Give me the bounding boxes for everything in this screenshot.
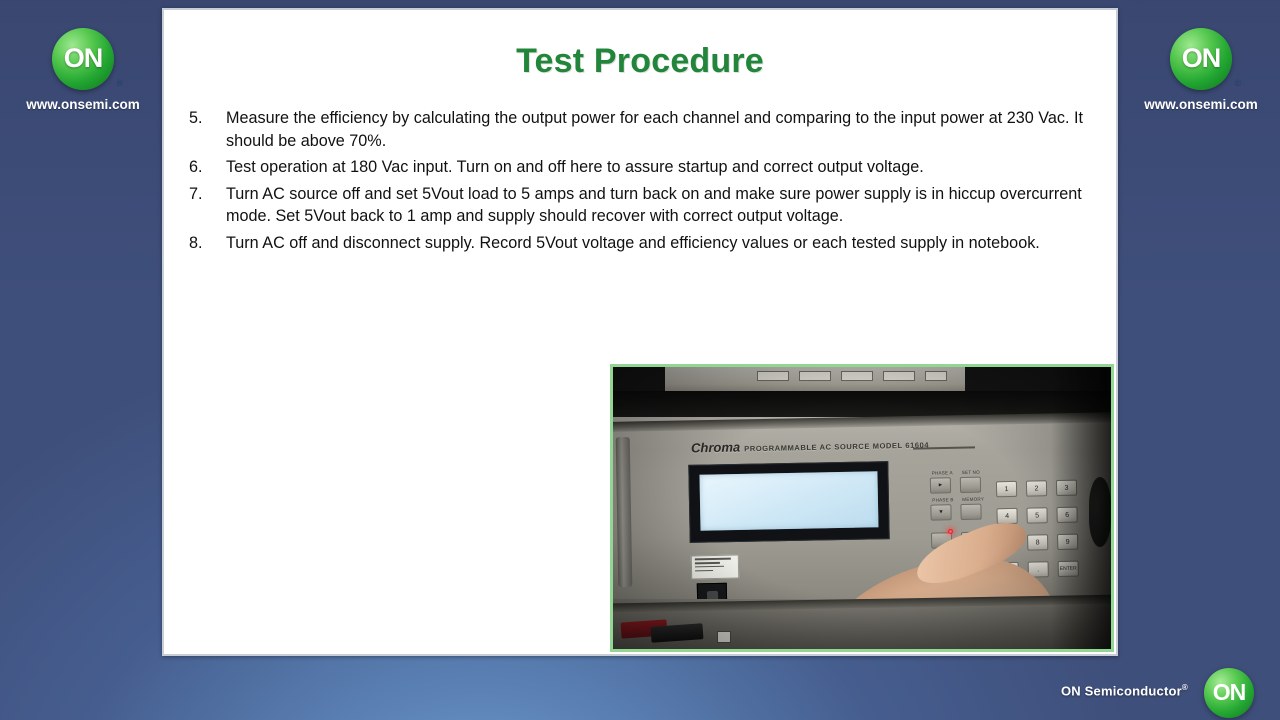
footer-on-logo: ON [1204, 668, 1254, 718]
onsemi-logo-left: ON ® www.onsemi.com [22, 28, 144, 112]
front-panel-stripe [913, 446, 975, 449]
upper-instrument [665, 367, 965, 391]
presentation-viewer: ON ® www.onsemi.com ON ® www.onsemi.com … [0, 0, 1280, 720]
key-3[interactable]: 3 [1056, 480, 1077, 496]
key-9[interactable]: 9 [1057, 534, 1078, 550]
footer-brand-text: ON Semiconductor [1061, 683, 1182, 698]
list-item: 5. Measure the efficiency by calculating… [186, 107, 1096, 152]
sticker-line [695, 562, 720, 564]
key-8[interactable]: 8 [1027, 534, 1048, 550]
lcd-bezel [688, 461, 889, 543]
sticker-line [695, 558, 731, 560]
phase-b-caption: PHASE B [932, 497, 953, 502]
lcd-display [699, 471, 878, 530]
sticker-line [695, 570, 713, 572]
chroma-brand-label: ChromaPROGRAMMABLE AC SOURCE MODEL 61604 [691, 436, 929, 456]
chroma-model-text: PROGRAMMABLE AC SOURCE MODEL 61604 [744, 441, 929, 454]
slide-canvas: Test Procedure 5. Measure the efficiency… [162, 8, 1118, 656]
key-2[interactable]: 2 [1026, 480, 1047, 496]
footer-registered-mark: ® [1182, 683, 1188, 692]
procedure-list: 5. Measure the efficiency by calculating… [186, 107, 1096, 255]
panel-marker [717, 631, 731, 643]
footer-brand: ON Semiconductor® [1061, 683, 1188, 698]
onsemi-logo-right: ON ® www.onsemi.com [1140, 28, 1262, 112]
set-no-caption: SET NO [962, 470, 980, 475]
list-item-number: 8. [186, 232, 226, 255]
list-item-number: 6. [186, 156, 226, 179]
memory-caption: MEMORY [962, 497, 984, 502]
on-logo-text-left: ON [52, 43, 114, 74]
phase-a-caption: PHASE A [932, 470, 953, 475]
list-item-number: 7. [186, 183, 226, 228]
upper-instrument-button [925, 371, 947, 381]
list-item-text: Measure the efficiency by calculating th… [226, 107, 1096, 152]
list-item-text: Turn AC source off and set 5Vout load to… [226, 183, 1096, 228]
onsemi-url-left[interactable]: www.onsemi.com [22, 97, 144, 112]
memory-key[interactable] [960, 504, 981, 520]
chroma-brand-text: Chroma [691, 439, 740, 455]
phase-a-key[interactable]: ► [930, 477, 951, 493]
list-item-text: Test operation at 180 Vac input. Turn on… [226, 156, 1096, 179]
key-enter[interactable]: ENTER [1058, 561, 1079, 577]
rack-handle-right [1089, 477, 1111, 547]
laser-pointer-dot [948, 529, 953, 534]
phase-b-key[interactable]: ▼ [930, 504, 951, 520]
rack-handle-left [616, 437, 633, 587]
list-item: 6. Test operation at 180 Vac input. Turn… [186, 156, 1096, 179]
photo-content: ChromaPROGRAMMABLE AC SOURCE MODEL 61604 [613, 367, 1111, 649]
registered-mark-right: ® [1234, 78, 1241, 88]
calibration-sticker [691, 555, 739, 580]
page-title: Test Procedure [164, 42, 1116, 81]
list-item-number: 5. [186, 107, 226, 152]
upper-instrument-button [799, 371, 831, 381]
registered-mark-left: ® [116, 78, 123, 88]
on-logo-mark-left: ON ® [52, 28, 114, 90]
upper-instrument-button [841, 371, 873, 381]
black-test-clip [651, 623, 704, 643]
set-no-key[interactable] [960, 477, 981, 493]
key-5[interactable]: 5 [1026, 507, 1047, 523]
list-item: 8. Turn AC off and disconnect supply. Re… [186, 232, 1096, 255]
chroma-ac-source-unit: ChromaPROGRAMMABLE AC SOURCE MODEL 61604 [613, 417, 1111, 602]
list-item-text: Turn AC off and disconnect supply. Recor… [226, 232, 1096, 255]
key-6[interactable]: 6 [1056, 507, 1077, 523]
upper-instrument-button [883, 371, 915, 381]
on-logo-mark-right: ON ® [1170, 28, 1232, 90]
equipment-photo: ChromaPROGRAMMABLE AC SOURCE MODEL 61604 [610, 364, 1114, 652]
upper-instrument-button [757, 371, 789, 381]
footer-on-logo-text: ON [1204, 679, 1254, 706]
on-logo-text-right: ON [1170, 43, 1232, 74]
sticker-line [695, 566, 724, 568]
onsemi-url-right[interactable]: www.onsemi.com [1140, 97, 1262, 112]
lower-rack-unit [613, 599, 1111, 649]
key-1[interactable]: 1 [996, 481, 1017, 497]
list-item: 7. Turn AC source off and set 5Vout load… [186, 183, 1096, 228]
